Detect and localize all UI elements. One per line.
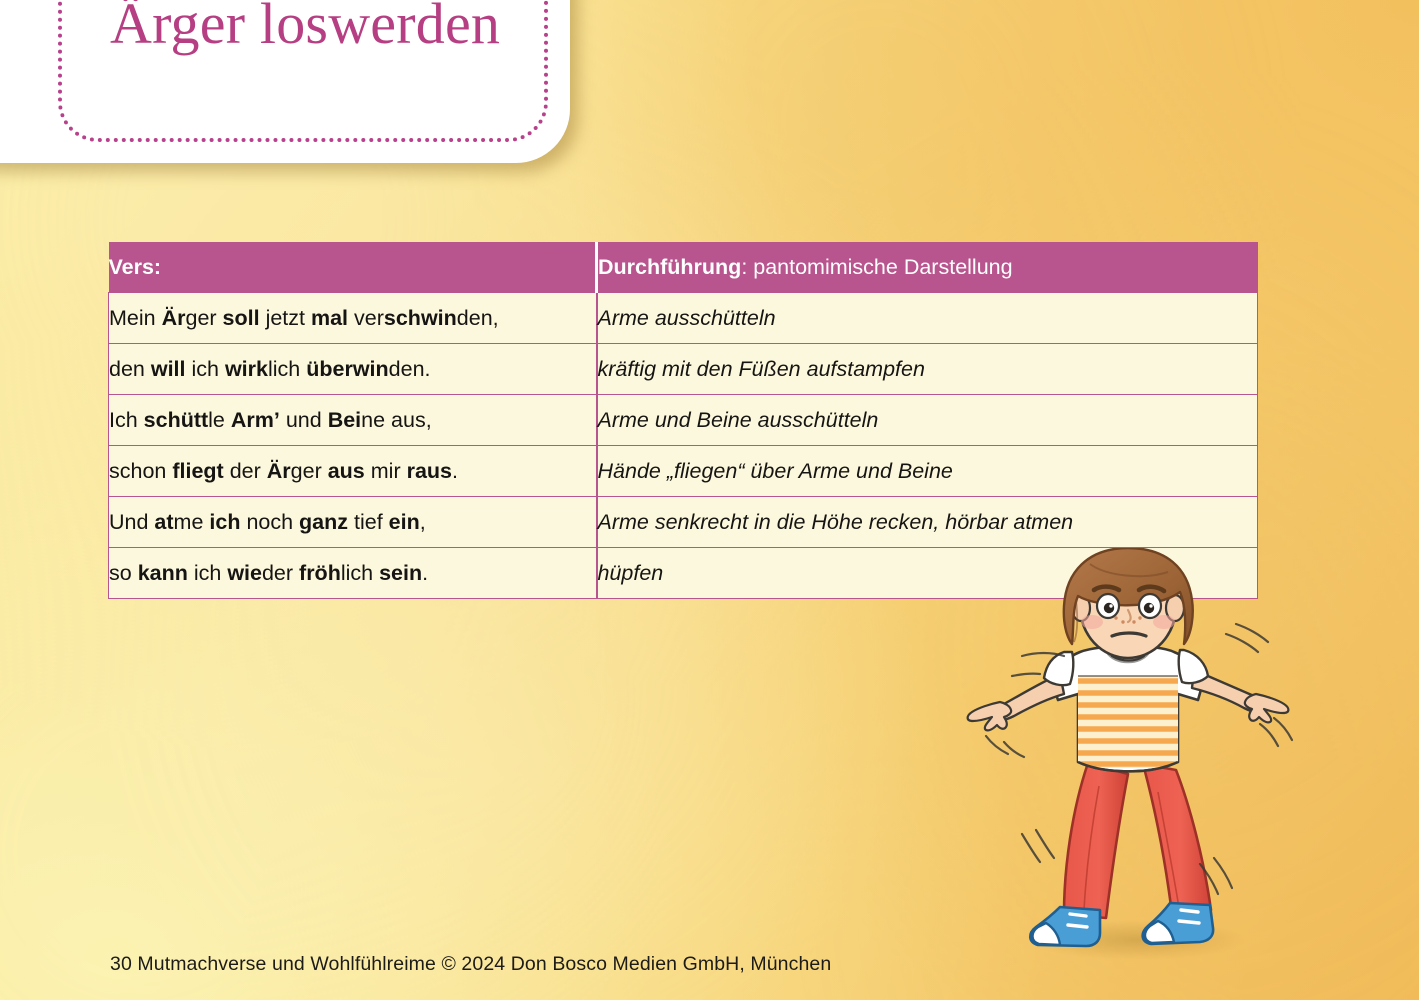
column-header-verse-label: Vers: [109,255,162,279]
table-row: Ich schüttle Arm’ und Beine aus,Arme und… [109,395,1258,446]
table-row: schon fliegt der Ärger aus mir raus.Händ… [109,446,1258,497]
left-sleeve [1044,652,1073,685]
right-sleeve [1179,650,1208,683]
verse-cell: schon fliegt der Ärger aus mir raus. [109,446,597,497]
table-header-row: Vers: Durchführung: pantomimische Darste… [109,242,1258,293]
right-hand [1245,694,1289,722]
column-header-action-label-bold: Durchführung [598,255,741,279]
verse-cell: Mein Ärger soll jetzt mal verschwinden, [109,293,597,344]
table-row: Mein Ärger soll jetzt mal verschwinden,A… [109,293,1258,344]
verse-cell: Und atme ich noch ganz tief ein, [109,497,597,548]
left-shoe [1030,907,1100,946]
verse-table: Vers: Durchführung: pantomimische Darste… [108,242,1258,599]
action-cell: Arme und Beine ausschütteln [597,395,1258,446]
action-cell: Arme senkrecht in die Höhe recken, hörba… [597,497,1258,548]
title-card: Ärger loswerden [0,0,570,163]
left-leg [1064,763,1128,918]
column-header-verse: Vers: [109,242,597,293]
page-title: Ärger loswerden [110,0,500,56]
footer-credit: 30 Mutmachverse und Wohlfühlreime © 2024… [110,953,831,976]
table-row: Und atme ich noch ganz tief ein,Arme sen… [109,497,1258,548]
action-cell: Arme ausschütteln [597,293,1258,344]
shirt-stripes [1068,676,1192,768]
verse-cell: so kann ich wieder fröhlich sein. [109,548,597,599]
table-row: den will ich wirklich überwinden.kräftig… [109,344,1258,395]
column-header-action-label-rest: : pantomimische Darstellung [741,255,1012,279]
verse-cell: Ich schüttle Arm’ und Beine aus, [109,395,597,446]
column-header-action: Durchführung: pantomimische Darstellung [597,242,1258,293]
action-cell: Hände „fliegen“ über Arme und Beine [597,446,1258,497]
verse-cell: den will ich wirklich überwinden. [109,344,597,395]
right-shoe [1143,903,1213,944]
action-cell: kräftig mit den Füßen aufstampfen [597,344,1258,395]
child-shaking-arms-illustration [960,548,1330,978]
table-head: Vers: Durchführung: pantomimische Darste… [109,242,1258,293]
page-canvas: Ärger loswerden Vers: Durchführung: pant… [0,0,1419,1000]
left-hand [968,702,1012,730]
